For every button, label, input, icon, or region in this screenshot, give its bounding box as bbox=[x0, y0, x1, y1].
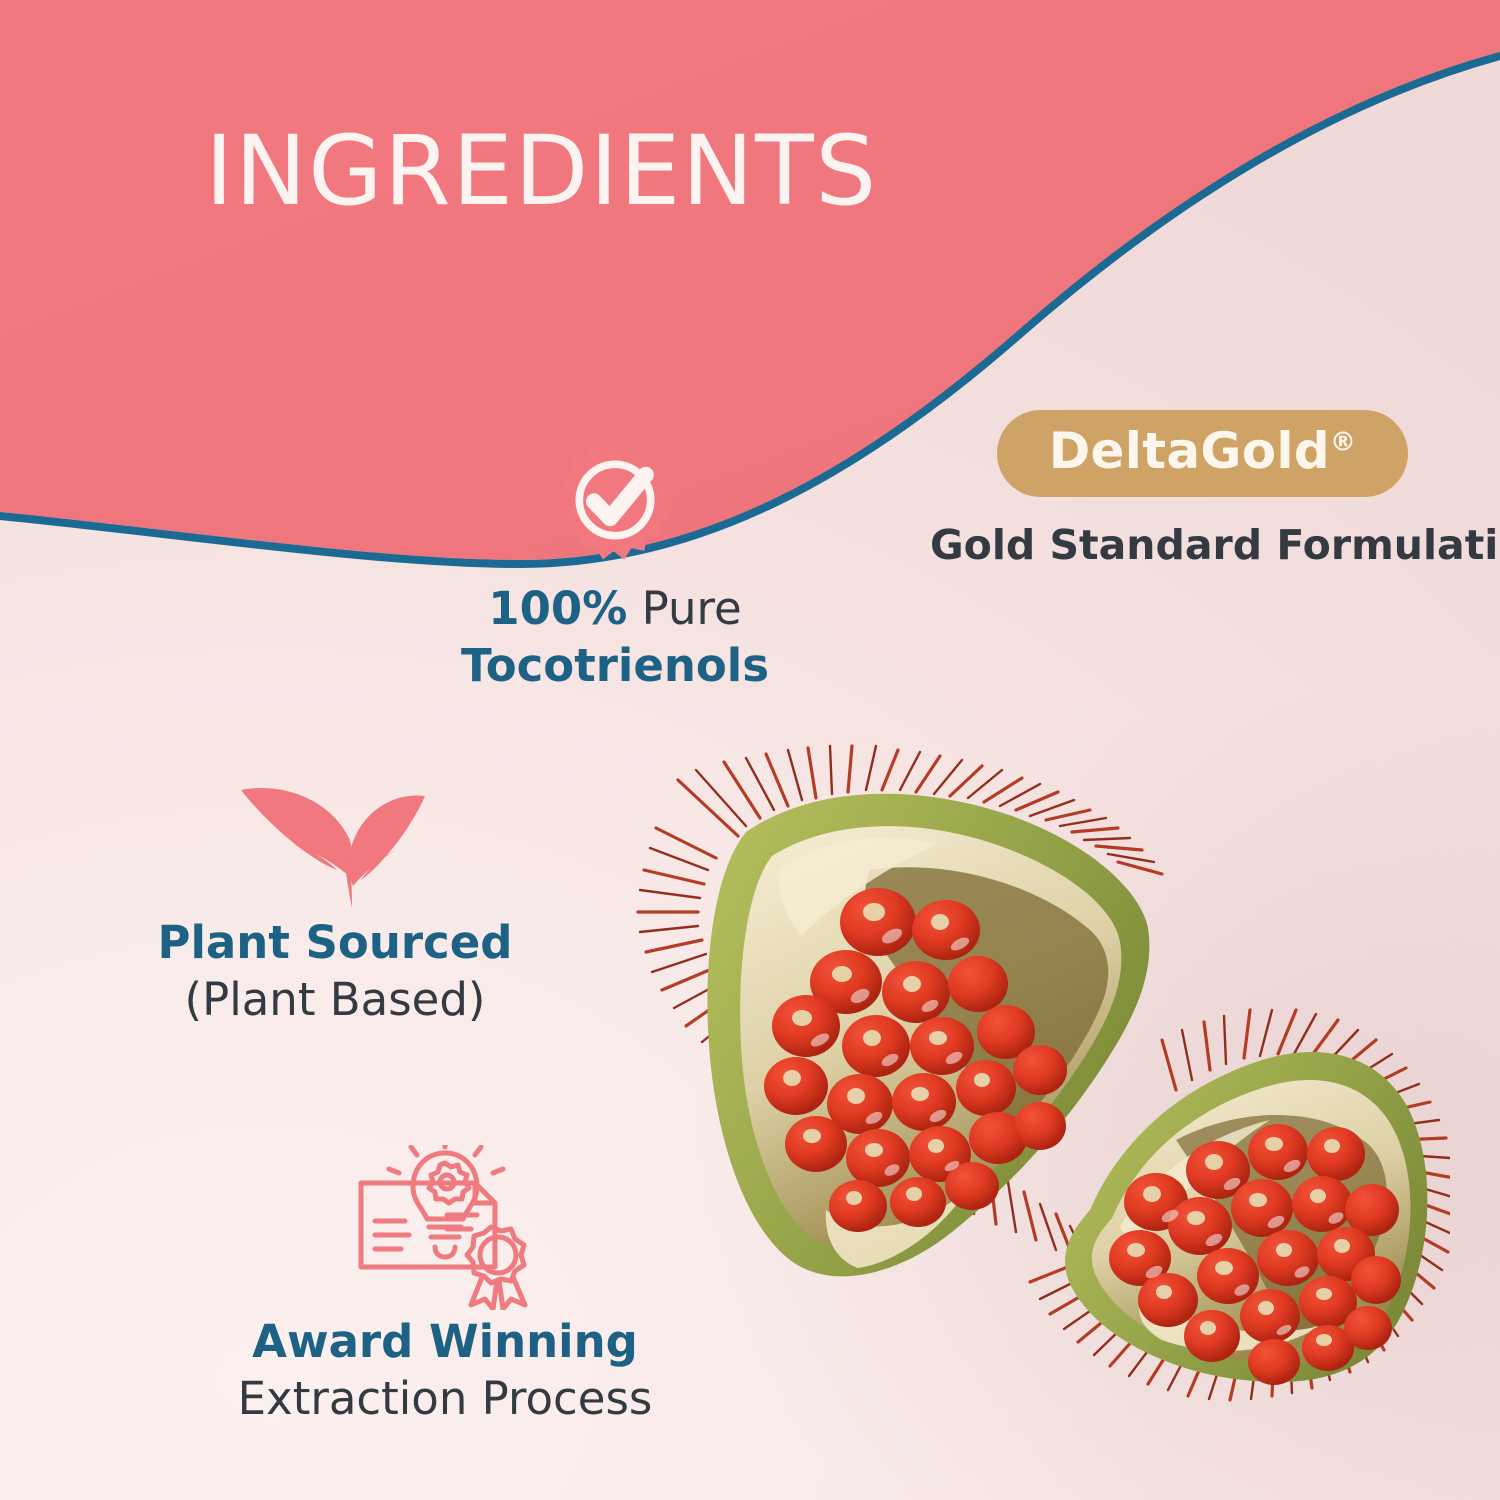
feature-plant-line2: (Plant Based) bbox=[110, 972, 560, 1029]
page-title: INGREDIENTS bbox=[205, 123, 878, 219]
deltagold-subtitle: Gold Standard Formulation bbox=[930, 521, 1475, 569]
feature-pure-line1-strong: 100% bbox=[488, 582, 627, 635]
registered-trademark-icon: ® bbox=[1330, 427, 1356, 457]
annatto-seed-pod-photo bbox=[620, 740, 1450, 1430]
deltagold-brand-label: DeltaGold bbox=[1049, 422, 1330, 480]
ingredients-infographic: INGREDIENTS 100% Pure Tocotrienols bbox=[0, 0, 1500, 1500]
feature-pure-tocotrienols: 100% Pure Tocotrienols bbox=[395, 437, 835, 694]
feature-plant-line1: Plant Sourced bbox=[110, 915, 560, 972]
deltagold-badge: DeltaGold® bbox=[997, 410, 1409, 497]
leaf-sprout-icon bbox=[110, 776, 560, 915]
deltagold-block: DeltaGold® Gold Standard Formulation bbox=[930, 410, 1475, 569]
feature-pure-line1-plain: Pure bbox=[627, 582, 741, 635]
check-badge-icon bbox=[395, 437, 835, 581]
feature-plant-sourced: Plant Sourced (Plant Based) bbox=[110, 776, 560, 1028]
feature-pure-line1: 100% Pure bbox=[395, 581, 835, 638]
feature-pure-line2: Tocotrienols bbox=[395, 638, 835, 695]
